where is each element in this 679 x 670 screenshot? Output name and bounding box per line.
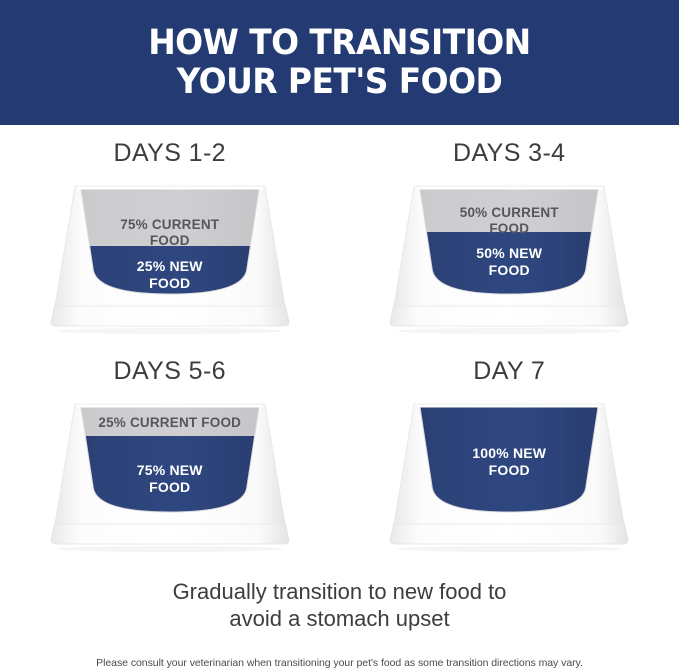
transition-step-3: DAYS 5-6 25% CURREN xyxy=(0,357,340,575)
disclaimer-text: Please consult your veterinarian when tr… xyxy=(40,657,639,670)
transition-step-1: DAYS 1-2 xyxy=(0,139,340,357)
food-bowl-3: 25% CURRENT FOOD 75% NEW FOOD xyxy=(45,400,295,552)
bowl-illustration xyxy=(384,400,634,552)
step-label-days-1-2: DAYS 1-2 xyxy=(113,139,226,168)
step-label-day-7: DAY 7 xyxy=(473,357,545,386)
transition-steps-grid: DAYS 1-2 xyxy=(0,125,679,575)
food-bowl-2: 50% CURRENT FOOD 50% NEW FOOD xyxy=(384,182,634,334)
transition-step-4: DAY 7 100% NEW FOOD xyxy=(340,357,679,575)
bowl-illustration xyxy=(45,182,295,334)
header-banner: HOW TO TRANSITION YOUR PET'S FOOD xyxy=(0,0,679,125)
transition-step-2: DAYS 3-4 50% CURREN xyxy=(340,139,679,357)
page-title: HOW TO TRANSITION YOUR PET'S FOOD xyxy=(135,24,544,101)
bowl-illustration xyxy=(45,400,295,552)
tagline-text: Gradually transition to new food to avoi… xyxy=(40,579,639,633)
step-label-days-5-6: DAYS 5-6 xyxy=(113,357,226,386)
bowl-illustration xyxy=(384,182,634,334)
step-label-days-3-4: DAYS 3-4 xyxy=(453,139,566,168)
footer-section: Gradually transition to new food to avoi… xyxy=(0,575,679,670)
food-bowl-1: 75% CURRENT FOOD 25% NEW FOOD xyxy=(45,182,295,334)
food-bowl-4: 100% NEW FOOD xyxy=(384,400,634,552)
